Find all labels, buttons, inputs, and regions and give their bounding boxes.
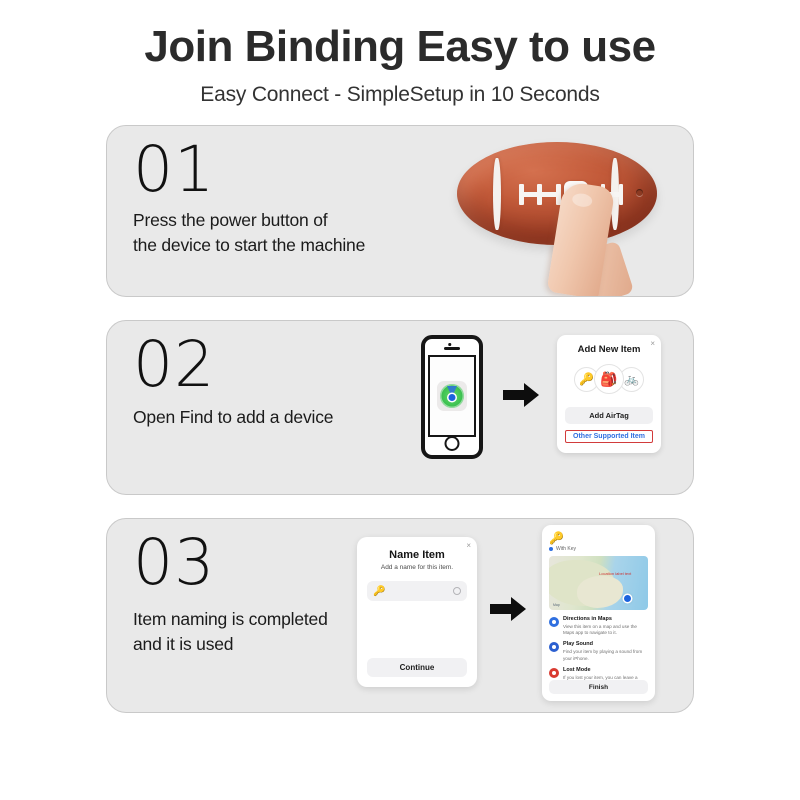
item-type-icons: 🔑 🎒 🚲 xyxy=(565,364,653,394)
map-scale-label: Map xyxy=(553,603,560,607)
close-icon[interactable]: × xyxy=(466,541,471,550)
phone-speaker-icon xyxy=(444,347,460,350)
other-supported-item-highlight: Other Supported Item xyxy=(565,430,653,443)
find-my-radar-icon xyxy=(440,384,464,408)
clear-circle-icon[interactable] xyxy=(453,587,461,595)
step-03-illustration: × Name Item Add a name for this item. 🔑 … xyxy=(357,525,687,707)
step-card-02: 02 Open Find to add a device xyxy=(106,320,694,495)
item-label: With Key xyxy=(556,546,576,552)
find-my-app-icon[interactable] xyxy=(437,381,467,411)
page-title: Join Binding Easy to use xyxy=(0,24,800,70)
step-03-description: Item naming is completed and it is used xyxy=(133,607,328,658)
step-01-number: 01 xyxy=(133,140,365,200)
item-name-input[interactable]: 🔑 xyxy=(367,581,467,601)
key-icon: 🔑 xyxy=(549,532,648,544)
option-desc: Find your item by playing a sound from y… xyxy=(563,649,648,661)
step-02-text-block: 02 Open Find to add a device xyxy=(133,335,333,430)
continue-button[interactable]: Continue xyxy=(367,658,467,677)
option-title: Play Sound xyxy=(563,641,648,648)
option-title: Lost Mode xyxy=(563,667,648,674)
page-header: Join Binding Easy to use Easy Connect - … xyxy=(0,0,800,107)
map-view[interactable]: Location label text Map xyxy=(549,556,648,610)
step-02-description: Open Find to add a device xyxy=(133,405,333,430)
map-landmass-secondary-icon xyxy=(577,576,623,608)
map-location-pin-icon xyxy=(624,595,631,602)
play-sound-icon xyxy=(549,642,559,652)
add-new-item-panel: × Add New Item 🔑 🎒 🚲 Add AirTag Other Su… xyxy=(557,335,661,453)
other-supported-item-link[interactable]: Other Supported Item xyxy=(573,433,645,440)
key-icon: 🔑 xyxy=(373,586,385,597)
football-stripe-left-icon xyxy=(493,158,501,230)
step-02-number: 02 xyxy=(133,335,333,395)
add-new-item-title: Add New Item xyxy=(565,344,653,355)
football-device-illustration xyxy=(449,128,679,297)
option-title: Directions in Maps xyxy=(563,616,648,623)
directions-icon xyxy=(549,617,559,627)
name-item-title: Name Item xyxy=(367,549,467,561)
step-01-description: Press the power button of the device to … xyxy=(133,208,365,259)
status-dot-icon xyxy=(549,547,553,551)
step-02-illustration: × Add New Item 🔑 🎒 🚲 Add AirTag Other Su… xyxy=(407,325,687,493)
infographic-page: Join Binding Easy to use Easy Connect - … xyxy=(0,0,800,800)
backpack-icon: 🎒 xyxy=(594,364,624,394)
phone-camera-icon xyxy=(448,343,451,346)
lanyard-hole-icon xyxy=(636,189,643,196)
add-airtag-button[interactable]: Add AirTag xyxy=(565,407,653,424)
step-card-01: 01 Press the power button of the device … xyxy=(106,125,694,297)
phone-home-button-icon[interactable] xyxy=(445,436,460,451)
iphone-illustration xyxy=(421,335,483,459)
steps-list: 01 Press the power button of the device … xyxy=(0,125,800,713)
list-item[interactable]: Play Sound Find your item by playing a s… xyxy=(549,641,648,661)
step-03-number: 03 xyxy=(133,533,328,593)
close-icon[interactable]: × xyxy=(650,339,655,348)
page-subtitle: Easy Connect - SimpleSetup in 10 Seconds xyxy=(0,83,800,107)
finish-button[interactable]: Finish xyxy=(549,680,648,694)
step-card-03: 03 Item naming is completed and it is us… xyxy=(106,518,694,713)
step-01-text-block: 01 Press the power button of the device … xyxy=(133,140,365,259)
name-item-subtitle: Add a name for this item. xyxy=(367,564,467,571)
map-annotation: Location label text xyxy=(599,571,631,577)
lost-mode-icon xyxy=(549,668,559,678)
option-desc: View this item on a map and use the Maps… xyxy=(563,624,648,636)
name-item-panel: × Name Item Add a name for this item. 🔑 … xyxy=(357,537,477,687)
item-status-row: With Key xyxy=(549,546,648,552)
phone-screen xyxy=(428,355,476,437)
list-item[interactable]: Directions in Maps View this item on a m… xyxy=(549,616,648,636)
item-detail-panel: 🔑 With Key Location label text Map xyxy=(542,525,655,701)
step-03-text-block: 03 Item naming is completed and it is us… xyxy=(133,533,328,658)
